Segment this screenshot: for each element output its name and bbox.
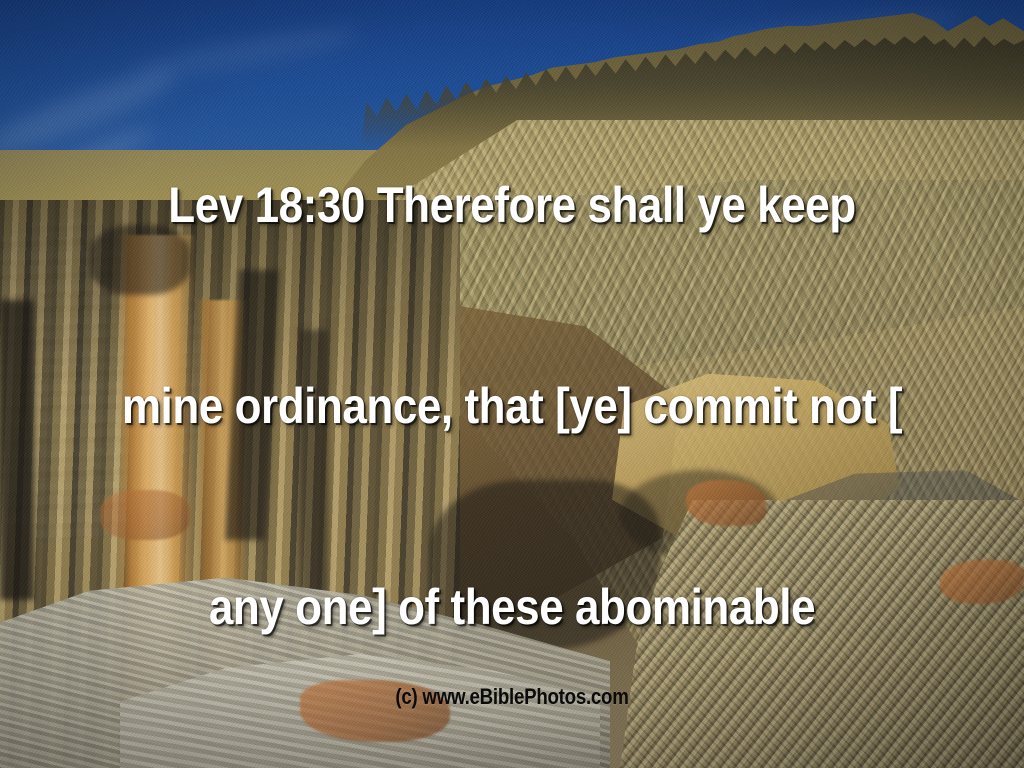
rock-formation-photo — [0, 0, 1024, 768]
shadow-crevice — [0, 300, 34, 600]
orange-rock-accent — [686, 480, 766, 526]
verse-image-canvas: Lev 18:30 Therefore shall ye keep mine o… — [0, 0, 1024, 768]
orange-rock-accent — [940, 560, 1024, 604]
copyright-watermark: (c) www.eBiblePhotos.com — [77, 684, 947, 710]
shadow-crevice — [300, 330, 328, 610]
shadow-crevice — [90, 225, 190, 295]
scree-slope-lower-right — [620, 500, 1024, 768]
orange-rock-accent — [100, 490, 190, 540]
